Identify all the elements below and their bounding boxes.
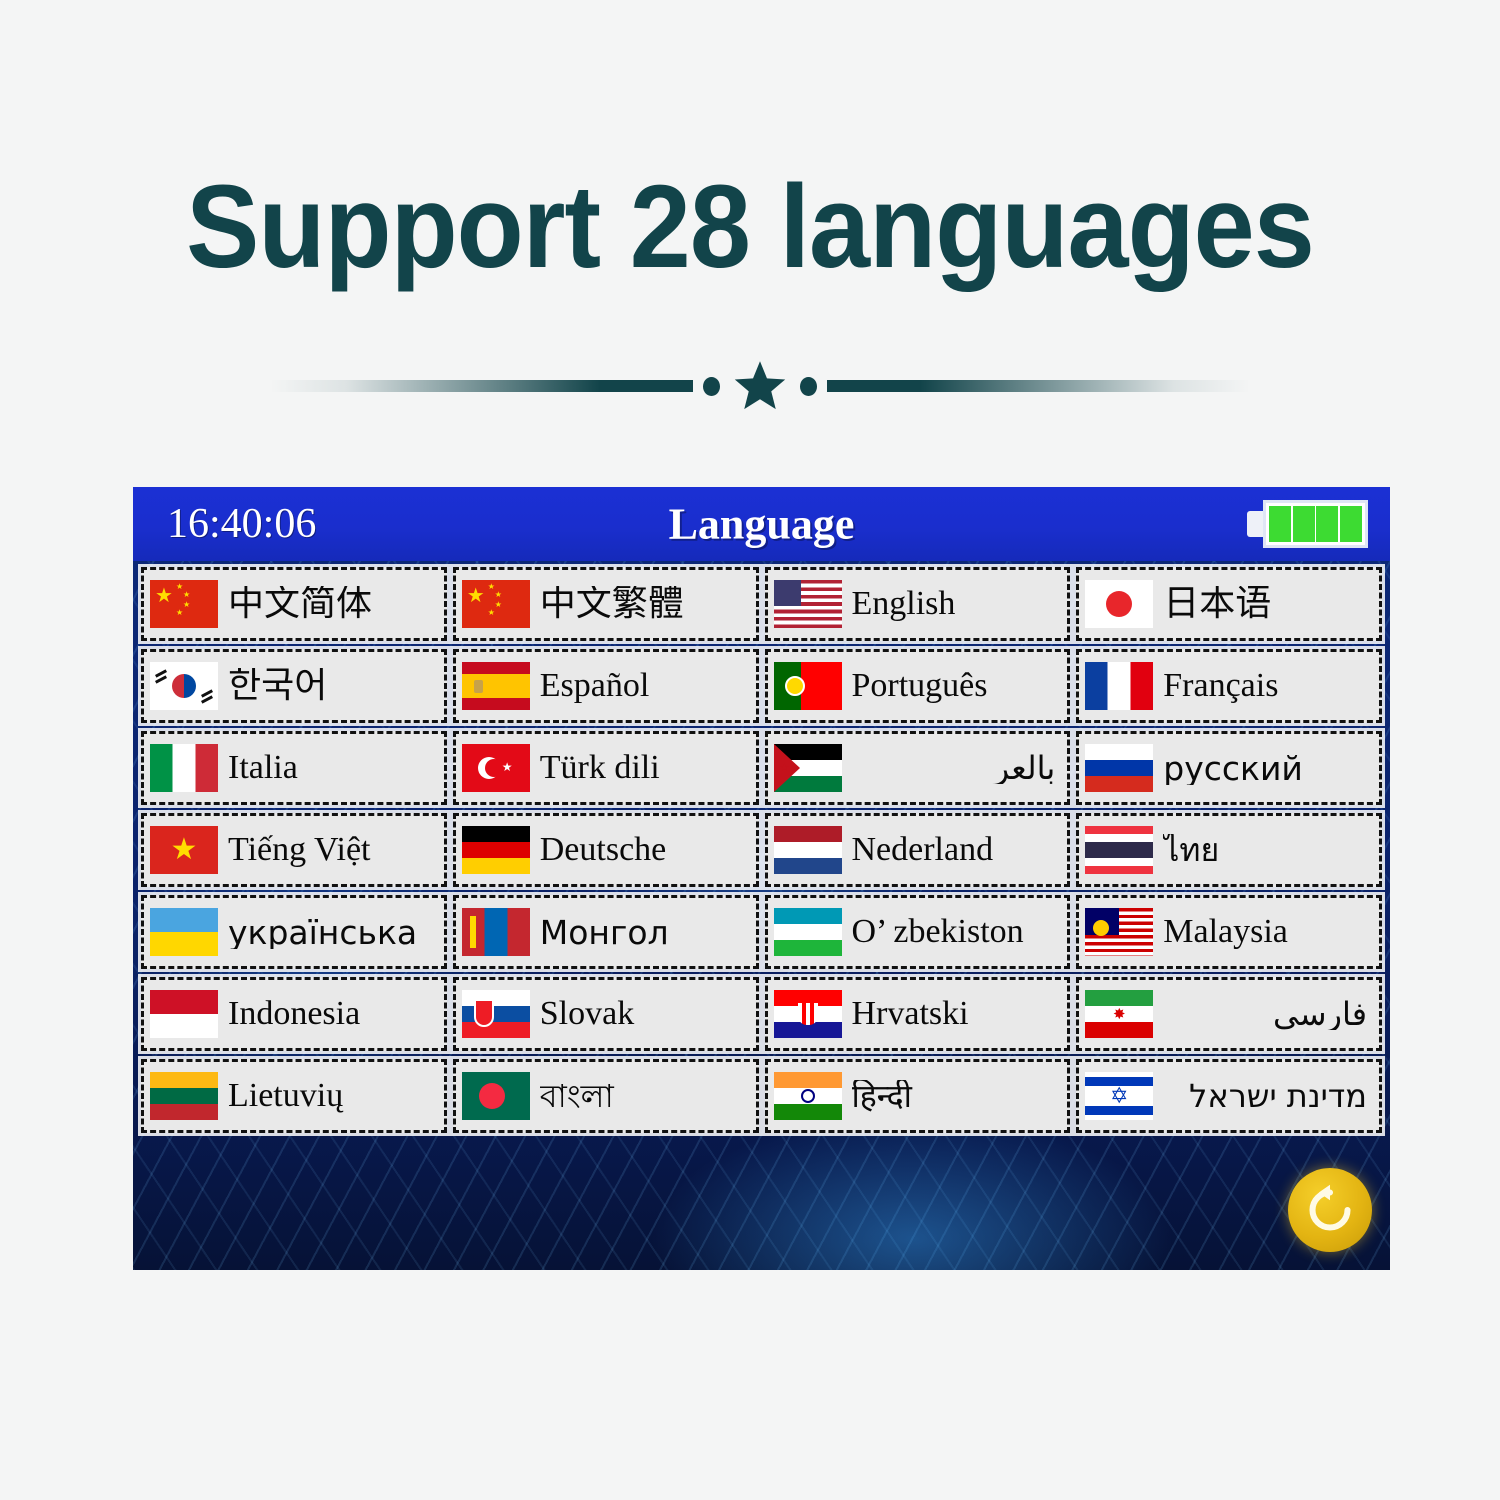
- divider-line-right: [827, 380, 1250, 392]
- battery-terminal: [1247, 511, 1263, 537]
- language-option[interactable]: ★★★★★中文繁體: [453, 567, 759, 641]
- language-option[interactable]: ✸فارسی: [1076, 977, 1382, 1051]
- ornamental-divider: [270, 358, 1250, 414]
- flag-icon: ★★★★★: [462, 580, 540, 628]
- language-label: ไทย: [1163, 834, 1373, 866]
- language-option[interactable]: ✡מדינת ישראל: [1076, 1059, 1382, 1133]
- language-option[interactable]: 한국어: [141, 649, 447, 723]
- flag-icon: [150, 1072, 228, 1120]
- battery-cell: [1269, 506, 1291, 542]
- flag-icon: [462, 908, 540, 956]
- star-icon: [730, 356, 790, 416]
- language-label: Монгол: [540, 916, 750, 949]
- language-label: فارسی: [1163, 998, 1373, 1030]
- device-screen: 16:40:06 Language ★★★★★中文简体★★★★★中文繁體Engl…: [133, 487, 1390, 1270]
- battery-cell: [1293, 506, 1315, 542]
- language-option[interactable]: ★Tiếng Việt: [141, 813, 447, 887]
- flag-icon: ★: [462, 744, 540, 792]
- flag-icon: [150, 908, 228, 956]
- language-label: English: [852, 587, 1062, 621]
- page-title: Support 28 languages: [53, 168, 1448, 286]
- language-label: Deutsche: [540, 833, 750, 867]
- flag-icon: [774, 662, 852, 710]
- flag-icon: [774, 580, 852, 628]
- flag-icon: ✸: [1085, 990, 1163, 1038]
- status-bar: 16:40:06 Language: [133, 487, 1390, 561]
- page-root: Support 28 languages 16:40:06 Language: [0, 0, 1500, 1500]
- language-label: हिन्दी: [852, 1080, 1062, 1112]
- language-label: بالعر: [852, 752, 1062, 784]
- language-option[interactable]: Français: [1076, 649, 1382, 723]
- flag-icon: [1085, 580, 1163, 628]
- language-label: Malaysia: [1163, 915, 1373, 949]
- language-label: Nederland: [852, 833, 1062, 867]
- flag-icon: [462, 826, 540, 874]
- language-label: Français: [1163, 669, 1373, 703]
- divider-dot-right: [800, 377, 817, 396]
- flag-icon: [150, 990, 228, 1038]
- divider-dot-left: [703, 377, 720, 396]
- language-option[interactable]: Lietuvių: [141, 1059, 447, 1133]
- flag-icon: ✡: [1085, 1072, 1163, 1120]
- battery-cell: [1340, 506, 1362, 542]
- language-label: українська: [228, 916, 438, 949]
- language-option[interactable]: 日本语: [1076, 567, 1382, 641]
- language-option[interactable]: Malaysia: [1076, 895, 1382, 969]
- language-option[interactable]: Português: [765, 649, 1071, 723]
- language-label: 中文简体: [228, 586, 438, 622]
- language-label: Lietuvių: [228, 1079, 438, 1113]
- battery-body: [1263, 500, 1368, 548]
- language-label: 日本语: [1163, 586, 1373, 622]
- language-option[interactable]: Hrvatski: [765, 977, 1071, 1051]
- screen-title: Language: [133, 499, 1390, 550]
- language-label: Español: [540, 669, 750, 703]
- language-label: বাংলা: [540, 1080, 750, 1112]
- language-option[interactable]: Монгол: [453, 895, 759, 969]
- language-option[interactable]: ★Türk dili: [453, 731, 759, 805]
- language-label: Italia: [228, 751, 438, 785]
- language-option[interactable]: Italia: [141, 731, 447, 805]
- language-option[interactable]: हिन्दी: [765, 1059, 1071, 1133]
- language-label: Hrvatski: [852, 997, 1062, 1031]
- language-option[interactable]: ไทย: [1076, 813, 1382, 887]
- language-option[interactable]: Nederland: [765, 813, 1071, 887]
- language-option[interactable]: Deutsche: [453, 813, 759, 887]
- language-option[interactable]: ★بالعر: [765, 731, 1071, 805]
- language-label: Tiếng Việt: [228, 833, 438, 867]
- language-option[interactable]: বাংলা: [453, 1059, 759, 1133]
- language-label: 中文繁體: [540, 586, 750, 622]
- language-label: Indonesia: [228, 997, 438, 1031]
- language-label: 한국어: [228, 668, 438, 704]
- language-label: מדינת ישראל: [1163, 1080, 1373, 1112]
- flag-icon: [1085, 908, 1163, 956]
- flag-icon: ★: [150, 826, 228, 874]
- language-option[interactable]: Español: [453, 649, 759, 723]
- language-option[interactable]: English: [765, 567, 1071, 641]
- flag-icon: [774, 826, 852, 874]
- language-label: Slovak: [540, 997, 750, 1031]
- battery-icon: [1247, 500, 1368, 548]
- flag-icon: [774, 908, 852, 956]
- return-arrow-icon: [1302, 1182, 1358, 1238]
- language-option[interactable]: русский: [1076, 731, 1382, 805]
- flag-icon: [1085, 662, 1163, 710]
- battery-cell: [1316, 506, 1338, 542]
- divider-line-left: [270, 380, 693, 392]
- flag-icon: [774, 990, 852, 1038]
- flag-icon: [462, 662, 540, 710]
- flag-icon: [1085, 826, 1163, 874]
- language-option[interactable]: Slovak: [453, 977, 759, 1051]
- flag-icon: [150, 744, 228, 792]
- flag-icon: [462, 990, 540, 1038]
- language-option[interactable]: Indonesia: [141, 977, 447, 1051]
- return-button[interactable]: [1288, 1168, 1372, 1252]
- flag-icon: ★★★★★: [150, 580, 228, 628]
- language-label: Português: [852, 669, 1062, 703]
- language-option[interactable]: ★★★★★中文简体: [141, 567, 447, 641]
- flag-icon: [462, 1072, 540, 1120]
- language-grid: ★★★★★中文简体★★★★★中文繁體English日本语한국어EspañolPo…: [141, 567, 1382, 1133]
- language-option[interactable]: українська: [141, 895, 447, 969]
- language-label: русский: [1163, 752, 1373, 785]
- language-label: Türk dili: [540, 751, 750, 785]
- flag-icon: [774, 1072, 852, 1120]
- flag-icon: ★: [774, 744, 852, 792]
- flag-icon: [150, 662, 228, 710]
- language-option[interactable]: O’ zbekiston: [765, 895, 1071, 969]
- flag-icon: [1085, 744, 1163, 792]
- language-label: O’ zbekiston: [852, 915, 1062, 949]
